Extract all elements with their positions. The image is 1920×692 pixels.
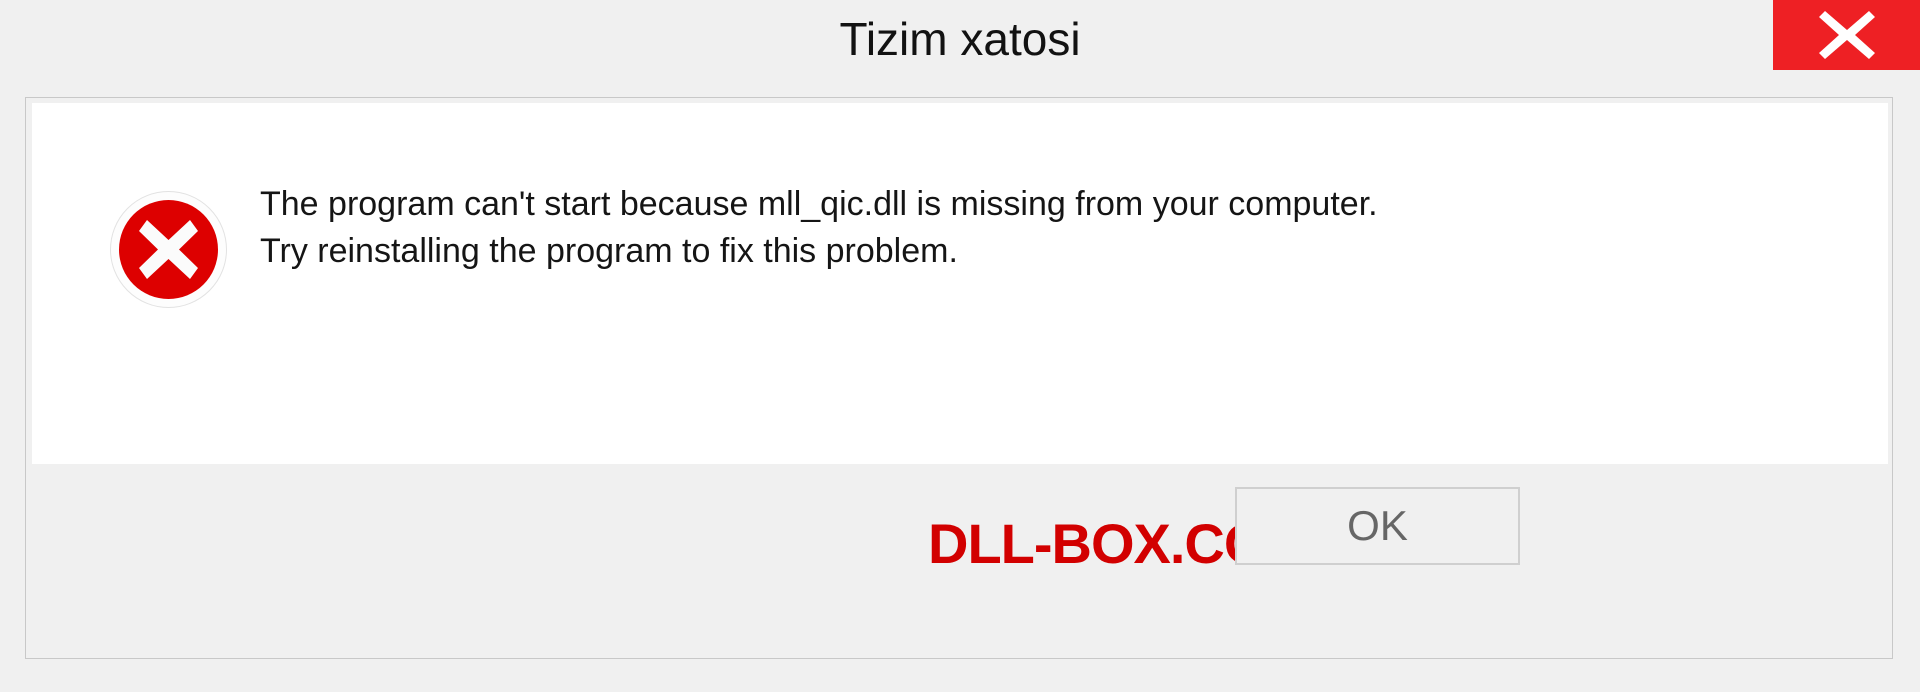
error-dialog-screen: Tizim xatosi The program can't start bec… (0, 0, 1920, 692)
error-message-line-2: Try reinstalling the program to fix this… (260, 228, 1820, 275)
dialog-title: Tizim xatosi (0, 10, 1920, 68)
dialog-footer: DLL-BOX.COM OK (32, 464, 1888, 654)
error-message: The program can't start because mll_qic.… (260, 181, 1820, 275)
close-button[interactable] (1773, 0, 1920, 70)
error-message-line-1: The program can't start because mll_qic.… (260, 181, 1820, 228)
dialog-frame: The program can't start because mll_qic.… (25, 97, 1893, 659)
ok-button[interactable]: OK (1235, 487, 1520, 565)
error-circle-x-icon (110, 191, 227, 308)
message-panel: The program can't start because mll_qic.… (32, 103, 1888, 464)
title-bar: Tizim xatosi (0, 0, 1920, 88)
ok-button-label: OK (1347, 505, 1408, 547)
